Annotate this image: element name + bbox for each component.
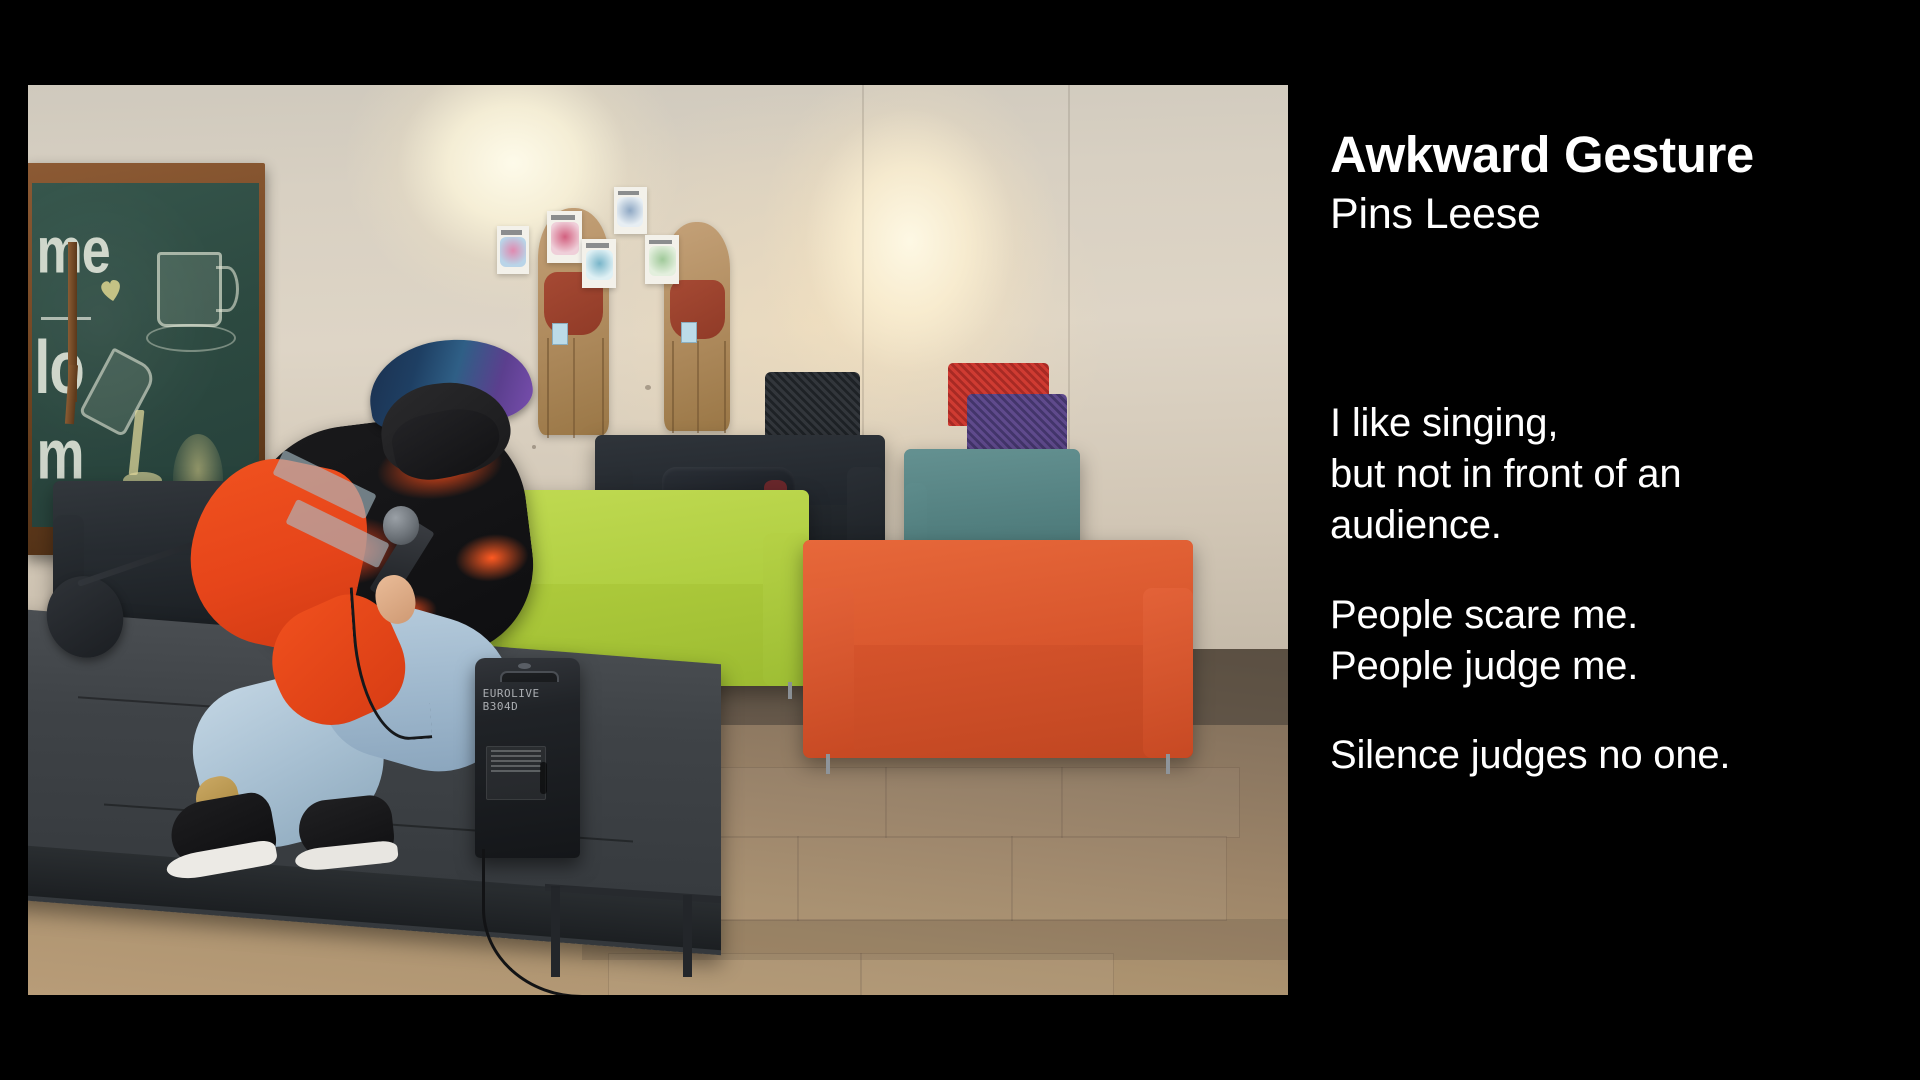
speaker-port: [540, 762, 547, 794]
cutout-torso: [670, 280, 725, 339]
poem-stanza: People scare me. People judge me.: [1330, 590, 1890, 692]
poster-artwork: [586, 250, 613, 280]
carpet-tile: [708, 767, 886, 838]
wall-poster: [547, 211, 582, 264]
orange-couch: [803, 540, 1194, 758]
wall-poster: [582, 239, 616, 288]
couch-back: [803, 540, 1194, 654]
poem-line: but not in front of an: [1330, 449, 1890, 500]
poster-title-band: [501, 230, 523, 234]
carpet-tile: [1061, 767, 1239, 838]
couch-foot: [1166, 754, 1170, 774]
poem-stanza: I like singing, but not in front of an a…: [1330, 398, 1890, 552]
speaker-brand-line-2: B304D: [483, 701, 540, 714]
chalk-mug-drawing: [157, 252, 222, 327]
photo-scene: me lo m: [28, 85, 1288, 995]
speaker-handle: [500, 671, 558, 682]
stage-leg: [683, 895, 692, 977]
speaker-knob: [518, 663, 531, 669]
poster-title-band: [551, 215, 574, 220]
poster-artwork: [649, 246, 676, 276]
carpet-tile: [1011, 836, 1227, 921]
poster-title-band: [586, 243, 608, 247]
poster-title-band: [649, 240, 671, 244]
performance-photo: me lo m: [28, 85, 1288, 995]
presentation-slide: me lo m: [0, 0, 1920, 1080]
couch-foot: [826, 754, 830, 774]
stacking-chair-purple: [967, 394, 1068, 453]
cutout-legs: [672, 341, 726, 433]
poem-heading: Awkward Gesture Pins Leese: [1330, 128, 1754, 238]
couch-arm: [803, 588, 854, 758]
microphone-head: [383, 506, 419, 544]
couch-seat: [803, 645, 1194, 759]
wall-poster: [645, 235, 679, 284]
poem-text-panel: Awkward Gesture Pins Leese I like singin…: [1330, 0, 1920, 1080]
poem-body: I like singing, but not in front of an a…: [1330, 398, 1890, 781]
chalk-pitcher-drawing: [79, 347, 160, 437]
poem-line: I like singing,: [1330, 398, 1890, 449]
wall-poster: [497, 226, 530, 274]
speaker-spec-plate: [486, 746, 547, 800]
poster-artwork: [551, 222, 579, 255]
poem-stanza: Silence judges no one.: [1330, 730, 1890, 781]
poem-title: Awkward Gesture: [1330, 128, 1754, 182]
pa-speaker: EUROLIVE B304D: [475, 658, 580, 858]
speaker-brand-label: EUROLIVE B304D: [483, 688, 540, 714]
poster-artwork: [500, 237, 526, 267]
stacking-chair-black-mesh: [765, 372, 860, 445]
couch-back: [904, 449, 1080, 529]
wall-poster: [614, 187, 647, 234]
poster-artwork: [617, 197, 643, 226]
poster-title-band: [618, 191, 640, 195]
couch-foot: [788, 682, 792, 700]
poem-author: Pins Leese: [1330, 190, 1754, 238]
couch-arm: [1143, 588, 1194, 758]
sticky-note: [681, 322, 697, 343]
poem-line: audience.: [1330, 500, 1890, 551]
carpet-tile: [797, 836, 1013, 921]
carpet-tile: [885, 767, 1063, 838]
carpet-tile: [860, 953, 1114, 995]
poem-line: Silence judges no one.: [1330, 730, 1890, 781]
chalk-underline: [41, 317, 91, 320]
wall-scuff: [645, 385, 651, 390]
poem-line: People scare me.: [1330, 590, 1890, 641]
poem-line: People judge me.: [1330, 641, 1890, 692]
